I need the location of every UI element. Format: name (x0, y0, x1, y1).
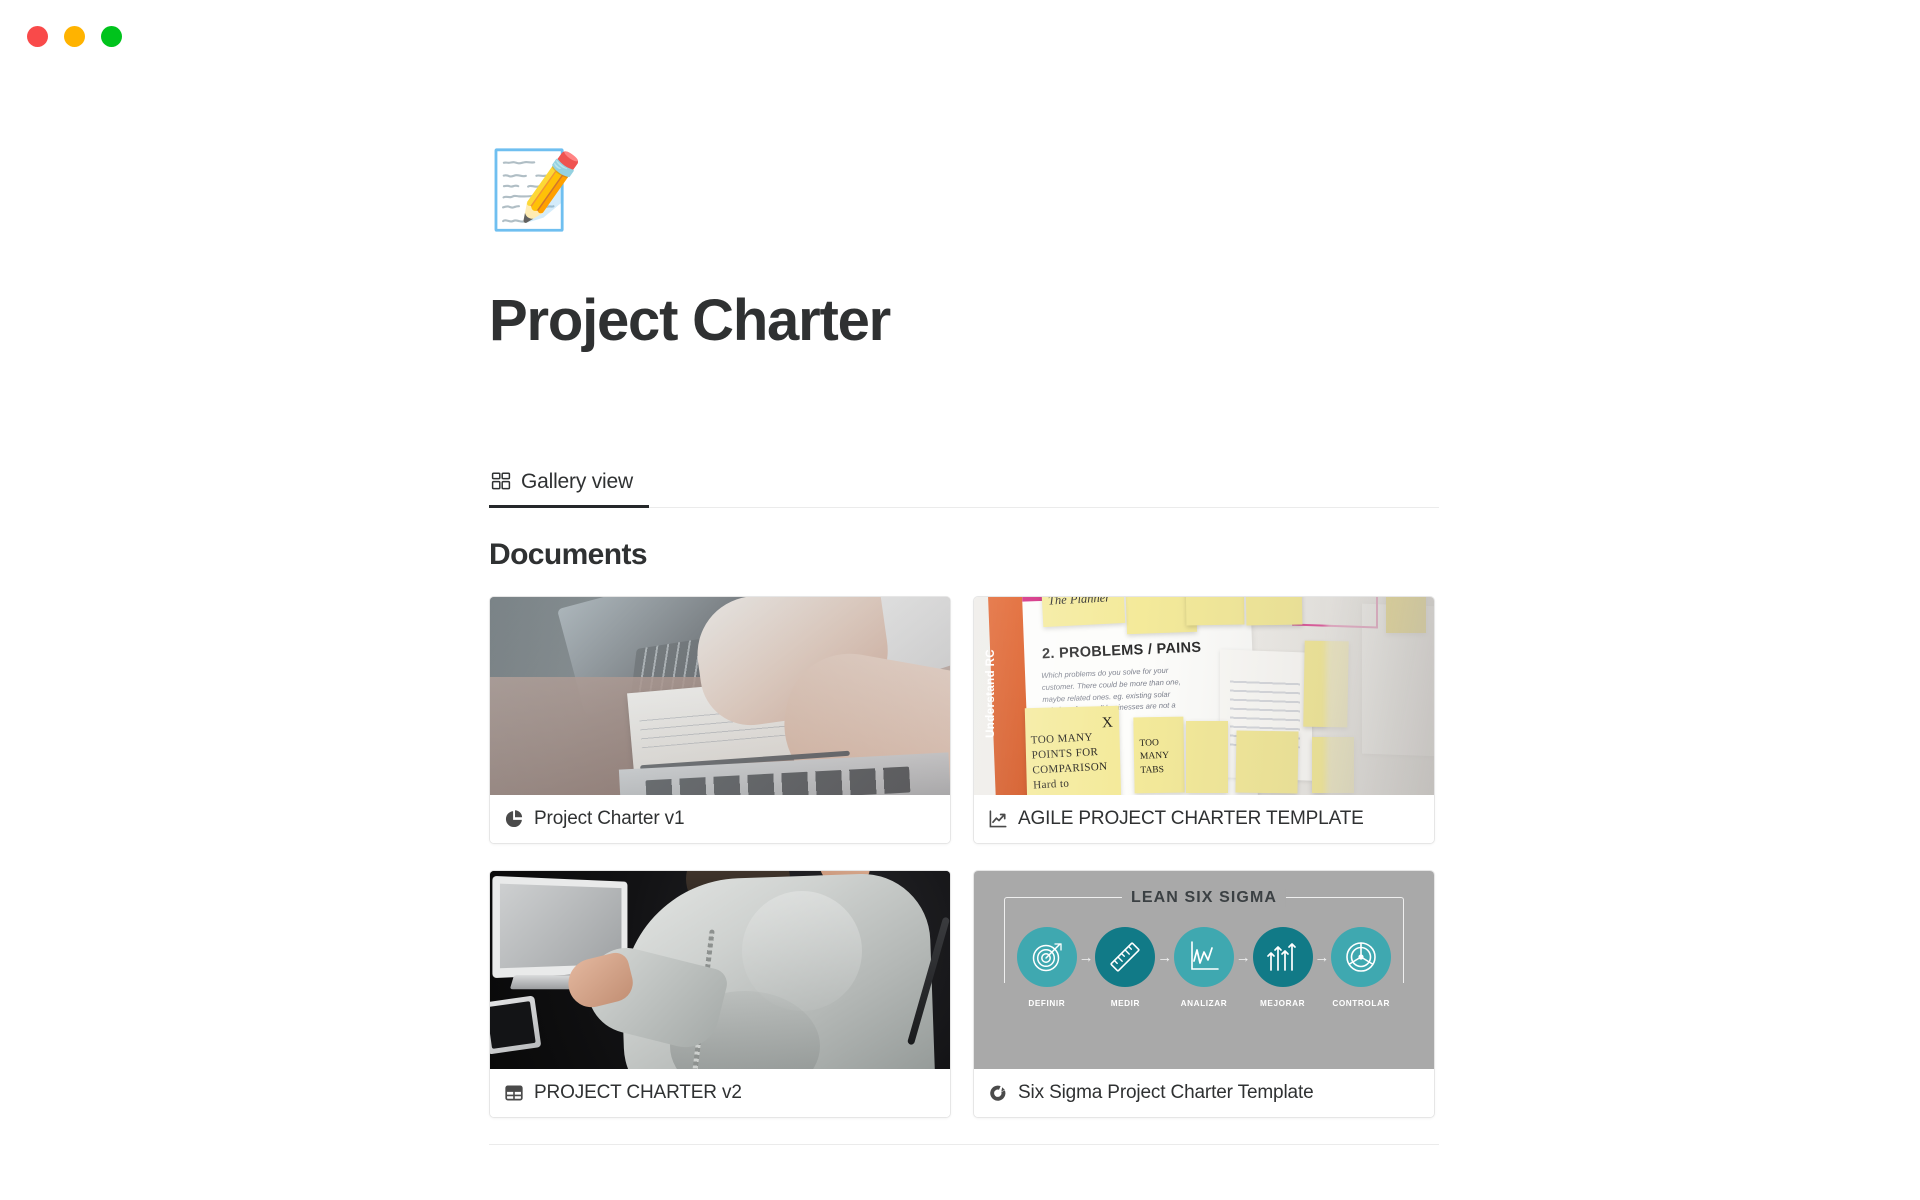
diagram-step-analizar: ANALIZAR (1173, 927, 1235, 1008)
diagram-step-mejorar: MEJORAR (1252, 927, 1314, 1008)
diagram-arrow-icon: → (1236, 950, 1251, 965)
gallery-card-grid: Project Charter v1 Understand RC 2. PROB… (489, 596, 1439, 1118)
view-tabbar: Gallery view (489, 464, 1439, 508)
gallery-card[interactable]: Understand RC 2. PROBLEMS / PAINS Which … (973, 596, 1435, 844)
tab-gallery-view[interactable]: Gallery view (489, 465, 643, 507)
card-cover-image-lean-six-sigma-diagram: LEAN SIX SIGMA (974, 871, 1434, 1069)
card-title: Project Charter v1 (534, 808, 684, 830)
memo-emoji-icon[interactable]: 📝 (489, 145, 581, 237)
tab-active-underline (489, 505, 649, 508)
diagram-arrow-icon: → (1079, 950, 1094, 965)
wheel-icon (1331, 927, 1391, 987)
diagram-step-controlar: CONTROLAR (1330, 927, 1392, 1008)
target-icon (1017, 927, 1077, 987)
tab-gallery-view-label: Gallery view (521, 471, 633, 492)
line-chart-icon (988, 809, 1008, 829)
page-content-column: 📝 Project Charter Gallery view Documents (489, 72, 1439, 1145)
card-title: AGILE PROJECT CHARTER TEMPLATE (1018, 808, 1364, 830)
table-icon (504, 1083, 524, 1103)
card-cover-image-denim-laptop-photo (490, 871, 950, 1069)
card-footer: Project Charter v1 (490, 795, 950, 843)
window-titlebar (0, 0, 1920, 72)
diagram-step-label: ANALIZAR (1173, 999, 1235, 1008)
diagram-step-label: MEJORAR (1252, 999, 1314, 1008)
content-bottom-divider (489, 1144, 1439, 1145)
page-body: 📝 Project Charter Gallery view Documents (0, 72, 1920, 1200)
gallery-card[interactable]: PROJECT CHARTER v2 (489, 870, 951, 1118)
card-footer: Six Sigma Project Charter Template (974, 1069, 1434, 1117)
card-cover-image-desk-photo (490, 597, 950, 795)
minimize-window-button[interactable] (64, 26, 85, 47)
diagram-step-label: CONTROLAR (1330, 999, 1392, 1008)
gallery-card[interactable]: LEAN SIX SIGMA (973, 870, 1435, 1118)
maximize-window-button[interactable] (101, 26, 122, 47)
diagram-step-label: MEDIR (1095, 999, 1157, 1008)
card-title: Six Sigma Project Charter Template (1018, 1082, 1314, 1104)
card-footer: AGILE PROJECT CHARTER TEMPLATE (974, 795, 1434, 843)
diagram-step-medir: MEDIR (1095, 927, 1157, 1008)
donut-chart-icon (988, 1083, 1008, 1103)
gallery-grid-icon (491, 471, 511, 491)
diagram-title: LEAN SIX SIGMA (1122, 889, 1286, 907)
line-graph-icon (1174, 927, 1234, 987)
page-title[interactable]: Project Charter (489, 291, 1439, 352)
traffic-light-buttons (27, 26, 122, 47)
up-arrows-icon (1253, 927, 1313, 987)
diagram-arrow-icon: → (1314, 950, 1329, 965)
gallery-card[interactable]: Project Charter v1 (489, 596, 951, 844)
close-window-button[interactable] (27, 26, 48, 47)
ruler-icon (1095, 927, 1155, 987)
card-title: PROJECT CHARTER v2 (534, 1082, 742, 1104)
pie-chart-icon (504, 809, 524, 829)
section-title-documents: Documents (489, 538, 1439, 572)
diagram-step-definir: DEFINIR (1016, 927, 1078, 1008)
card-footer: PROJECT CHARTER v2 (490, 1069, 950, 1117)
card-cover-image-sticky-notes-photo: Understand RC 2. PROBLEMS / PAINS Which … (974, 597, 1434, 795)
diagram-steps: DEFINIR → (1016, 927, 1392, 1008)
diagram-step-label: DEFINIR (1016, 999, 1078, 1008)
diagram-arrow-icon: → (1157, 950, 1172, 965)
